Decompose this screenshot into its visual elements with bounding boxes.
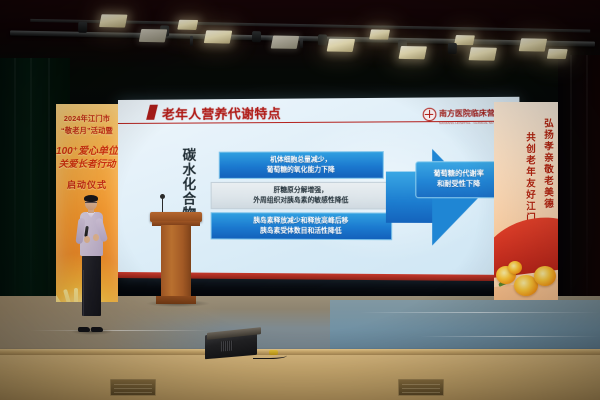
slide-item-2: 肝糖原分解增强， 外周组织对胰岛素的敏感性降低: [211, 182, 393, 210]
stage-vent-right: [398, 379, 444, 396]
banner-left-line-1: 2024年江门市: [56, 114, 118, 124]
cable-plug: [269, 350, 278, 355]
stage-presentation-scene: 老年人营养代谢特点 南方医院临床营养科 NANFANG HOSPITAL · C…: [0, 0, 600, 400]
slide-result-box: 葡萄糖的代谢率 和耐受性下降: [415, 161, 502, 199]
banner-left-line-2: “敬老月”活动暨: [56, 126, 118, 136]
event-banner-right: 弘扬孝亲敬老美德 共创老年友好江门: [494, 102, 558, 300]
presenter-glasses-icon: [85, 202, 97, 205]
slide-title: 老年人营养代谢特点: [162, 103, 281, 123]
slide-category-label: 碳水化合物: [180, 148, 194, 221]
banner-left-line-4: 关爱长者行动: [56, 156, 118, 170]
banner-left-line-5: 启动仪式: [56, 178, 118, 191]
slide-item-1: 机体细胞总量减少， 葡萄糖的氧化能力下降: [219, 151, 384, 179]
speaker-grille-icon: [221, 340, 233, 351]
presenter-shoe-right: [91, 327, 103, 332]
stage-floor-cool-light: [330, 300, 600, 350]
slide-item-list: 机体细胞总量减少， 葡萄糖的氧化能力下降 肝糖原分解增强， 外周组织对胰岛素的敏…: [219, 151, 384, 243]
lectern-mic-stem: [162, 198, 163, 213]
stage-vent-left: [110, 379, 156, 396]
chrysanthemum-3: [534, 266, 556, 286]
floor-monitor-speaker: [205, 330, 263, 358]
title-accent-flag: [146, 105, 158, 120]
lectern-microphone-icon: [160, 194, 165, 199]
lectern: [150, 212, 202, 304]
slide-item-3: 胰岛素释放减少和释放高峰后移 胰岛素受体数目和活性降低: [211, 212, 393, 240]
presenter: [74, 196, 108, 332]
banner-left-line-3: 100⁺爱心单位: [56, 142, 118, 157]
presenter-shoe-left: [78, 327, 90, 332]
stage-front-panel: [0, 355, 600, 400]
cross-emblem-icon: [422, 107, 436, 120]
slide-title-bar: 老年人营养代谢特点 南方医院临床营养科 NANFANG HOSPITAL · C…: [118, 101, 519, 124]
chrysanthemum-4: [508, 261, 522, 274]
